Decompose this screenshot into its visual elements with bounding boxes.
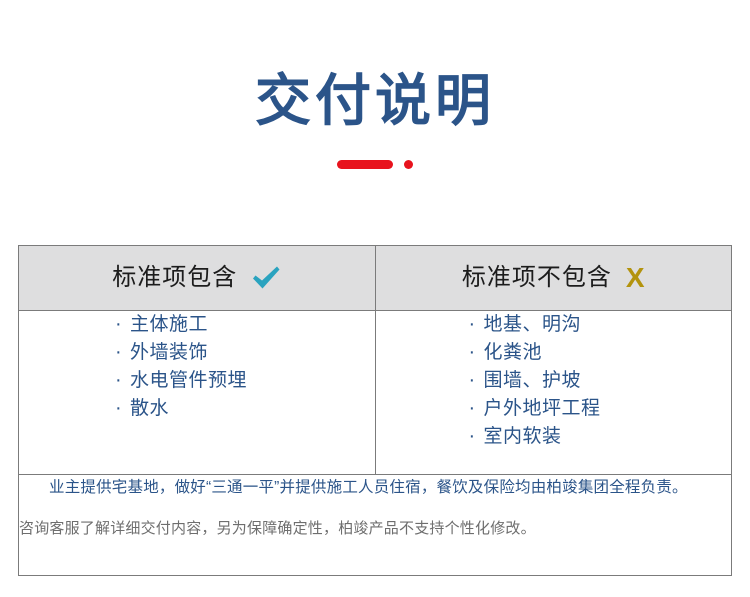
included-items-list: 主体施工 外墙装饰 水电管件预埋 散水 (19, 311, 375, 423)
title-decoration (0, 159, 750, 171)
included-items-cell: 主体施工 外墙装饰 水电管件预埋 散水 (19, 311, 376, 475)
table-header-row: 标准项包含 标准项不包含 X (19, 246, 732, 311)
list-item: 地基、明沟 (469, 311, 732, 339)
delivery-spec-table: 标准项包含 标准项不包含 X (18, 245, 732, 576)
excluded-items-cell: 地基、明沟 化粪池 围墙、护坡 户外地坪工程 室内软装 (375, 311, 732, 475)
list-item: 水电管件预埋 (115, 367, 375, 395)
list-item: 主体施工 (115, 311, 375, 339)
list-item: 室内软装 (469, 423, 732, 451)
page-title: 交付说明 (0, 72, 750, 131)
table-footer-row: 业主提供宅基地，做好“三通一平”并提供施工人员住宿，餐饮及保险均由柏竣集团全程负… (19, 475, 732, 576)
secondary-note-text: 咨询客服了解详细交付内容，另为保障确定性，柏竣产品不支持个性化修改。 (19, 518, 731, 541)
table-body-row: 主体施工 外墙装饰 水电管件预埋 散水 地基、明沟 化粪池 围墙、护坡 户外地坪… (19, 311, 732, 475)
notes-cell: 业主提供宅基地，做好“三通一平”并提供施工人员住宿，餐饮及保险均由柏竣集团全程负… (19, 475, 732, 576)
primary-note-text: 业主提供宅基地，做好“三通一平”并提供施工人员住宿，餐饮及保险均由柏竣集团全程负… (19, 475, 731, 502)
column-header-excluded: 标准项不包含 X (375, 246, 732, 311)
list-item: 户外地坪工程 (469, 395, 732, 423)
column-header-included: 标准项包含 (19, 246, 376, 311)
title-block: 交付说明 (0, 0, 750, 171)
list-item: 外墙装饰 (115, 339, 375, 367)
list-item: 围墙、护坡 (469, 367, 732, 395)
list-item: 化粪池 (469, 339, 732, 367)
column-header-included-label: 标准项包含 (112, 266, 237, 290)
check-icon (251, 265, 281, 291)
red-rounded-bar-icon (337, 160, 393, 169)
delivery-spec-page: 交付说明 标准项包含 (0, 0, 750, 597)
red-dot-icon (404, 160, 413, 169)
column-header-excluded-label: 标准项不包含 (462, 266, 612, 290)
excluded-items-list: 地基、明沟 化粪池 围墙、护坡 户外地坪工程 室内软装 (376, 311, 732, 451)
x-mark-icon: X (626, 264, 645, 292)
list-item: 散水 (115, 395, 375, 423)
